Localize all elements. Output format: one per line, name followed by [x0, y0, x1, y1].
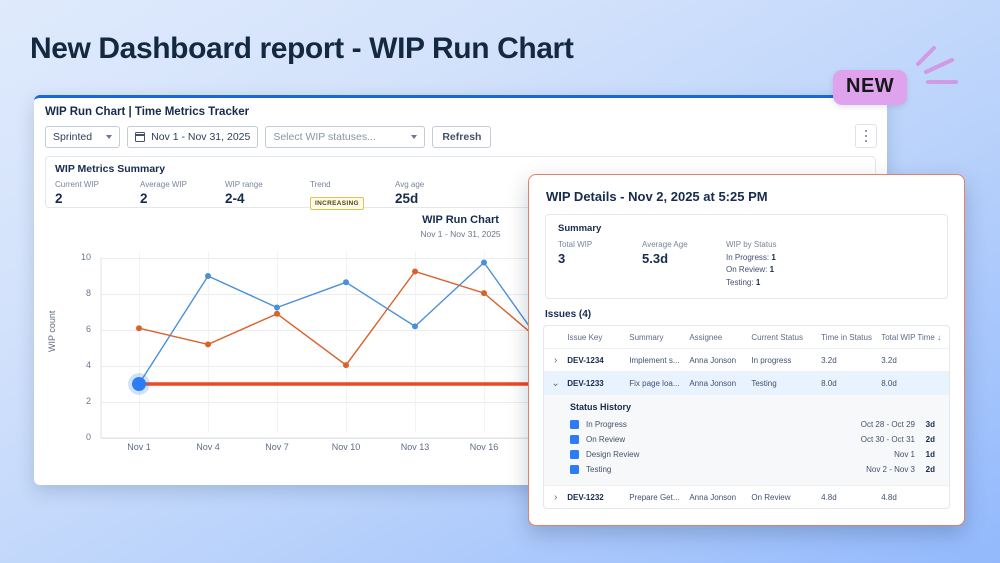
kebab-dot-icon [865, 140, 868, 143]
status-history-duration: 2d [915, 435, 949, 444]
status-count: 1 [770, 265, 774, 274]
average-age-value: 5.3d [642, 251, 726, 266]
chevron-down-icon [411, 135, 417, 139]
issue-summary: Implement s... [629, 356, 689, 365]
x-axis-tick: Nov 13 [385, 442, 445, 452]
date-range-value: Nov 1 - Nov 31, 2025 [151, 131, 250, 143]
column-header-assignee: Assignee [689, 333, 751, 342]
x-axis-tick: Nov 16 [454, 442, 514, 452]
sparkle-decoration-top-right [900, 44, 962, 96]
sprint-select[interactable]: Sprinted [45, 126, 120, 148]
status-history-row: Design Review Nov 1 1d [544, 447, 949, 462]
status-history-row: On Review Oct 30 - Oct 31 2d [544, 432, 949, 447]
date-range-picker[interactable]: Nov 1 - Nov 31, 2025 [127, 126, 258, 148]
row-collapse-icon[interactable]: ⌄ [544, 378, 567, 389]
column-header-summary: Summary [629, 333, 689, 342]
issue-time-in-status: 3.2d [821, 356, 881, 365]
details-average-age: Average Age 5.3d [642, 240, 726, 289]
summary-heading: WIP Metrics Summary [46, 157, 875, 175]
metric-label: Trend [310, 180, 395, 189]
metric-avg-age: Avg age 25d [395, 180, 480, 210]
status-color-swatch-icon [570, 465, 579, 474]
status-history-name: Design Review [586, 450, 819, 459]
issue-summary: Prepare Get... [629, 493, 689, 502]
row-expander-icon[interactable]: › [544, 492, 567, 503]
sprint-select-value: Sprinted [53, 131, 92, 143]
metric-value: 2 [140, 191, 225, 206]
status-history-duration: 2d [915, 465, 949, 474]
status-count: 1 [756, 278, 760, 287]
metric-value: 25d [395, 191, 480, 206]
issue-status: In progress [751, 356, 821, 365]
wip-status-placeholder: Select WIP statuses... [273, 131, 376, 143]
column-header-current-status: Current Status [751, 333, 821, 342]
status-history-dates: Oct 28 - Oct 29 [819, 420, 915, 429]
issue-assignee: Anna Jonson [689, 356, 751, 365]
details-summary-box: Summary Total WIP 3 Average Age 5.3d WIP… [545, 214, 948, 299]
issue-status: On Review [751, 493, 821, 502]
status-color-swatch-icon [570, 435, 579, 444]
details-summary-heading: Summary [558, 223, 947, 234]
issue-summary: Fix page loa... [629, 379, 689, 388]
x-axis-tick: Nov 10 [316, 442, 376, 452]
issue-key[interactable]: DEV-1232 [567, 493, 629, 502]
status-history-name: On Review [586, 435, 819, 444]
issue-assignee: Anna Jonson [689, 493, 751, 502]
table-row[interactable]: › DEV-1232 Prepare Get... Anna Jonson On… [544, 485, 949, 508]
status-color-swatch-icon [570, 450, 579, 459]
metric-value: 2-4 [225, 191, 310, 206]
x-axis-tick: Nov 7 [247, 442, 307, 452]
details-total-wip: Total WIP 3 [558, 240, 642, 289]
row-expander-icon[interactable]: › [544, 355, 567, 366]
kebab-dot-icon [865, 130, 868, 133]
status-count: 1 [771, 253, 775, 262]
refresh-button[interactable]: Refresh [432, 126, 491, 148]
x-axis-tick: Nov 1 [109, 442, 169, 452]
status-count-row: On Review: 1 [726, 264, 777, 276]
issue-key[interactable]: DEV-1234 [567, 356, 629, 365]
issue-status: Testing [751, 379, 821, 388]
card-title: WIP Run Chart | Time Metrics Tracker [45, 106, 249, 118]
status-history-name: In Progress [586, 420, 819, 429]
wip-status-select[interactable]: Select WIP statuses... [265, 126, 425, 148]
status-history-duration: 3d [915, 420, 949, 429]
chart-toolbar: Sprinted Nov 1 - Nov 31, 2025 Select WIP… [45, 126, 491, 148]
trend-badge: INCREASING [310, 197, 364, 210]
issue-assignee: Anna Jonson [689, 379, 751, 388]
status-history-dates: Nov 2 - Nov 3 [819, 465, 915, 474]
column-header-issue-key: Issue Key [567, 333, 629, 342]
metric-label: WIP range [225, 180, 310, 189]
issue-time-in-status: 8.0d [821, 379, 881, 388]
chevron-down-icon [106, 135, 112, 139]
details-wip-by-status: WIP by Status In Progress: 1 On Review: … [726, 240, 777, 289]
issue-key[interactable]: DEV-1233 [567, 379, 629, 388]
status-history-duration: 1d [915, 450, 949, 459]
metric-average-wip: Average WIP 2 [140, 180, 225, 210]
status-history-section: Status History In Progress Oct 28 - Oct … [544, 394, 949, 485]
status-history-name: Testing [586, 465, 819, 474]
issue-time-in-status: 4.8d [821, 493, 881, 502]
table-header-row: Issue Key Summary Assignee Current Statu… [544, 326, 949, 348]
status-count-row: Testing: 1 [726, 277, 777, 289]
issue-total-wip-time: 8.0d [881, 379, 949, 388]
new-badge: NEW [833, 70, 907, 105]
page-title: New Dashboard report - WIP Run Chart [30, 32, 573, 66]
status-name: Testing: [726, 278, 754, 287]
metric-label: Avg age [395, 180, 480, 189]
status-name: In Progress: [726, 253, 769, 262]
details-title: WIP Details - Nov 2, 2025 at 5:25 PM [529, 175, 964, 204]
status-history-heading: Status History [544, 402, 949, 417]
more-options-button[interactable] [855, 124, 877, 148]
total-wip-label: Total WIP [558, 240, 642, 249]
total-wip-value: 3 [558, 251, 642, 266]
status-history-dates: Oct 30 - Oct 31 [819, 435, 915, 444]
metric-wip-range: WIP range 2-4 [225, 180, 310, 210]
wip-details-panel: WIP Details - Nov 2, 2025 at 5:25 PM Sum… [528, 174, 965, 526]
metric-current-wip: Current WIP 2 [55, 180, 140, 210]
wip-by-status-label: WIP by Status [726, 240, 777, 249]
metric-trend: Trend INCREASING [310, 180, 395, 210]
average-age-label: Average Age [642, 240, 726, 249]
issue-total-wip-time: 4.8d [881, 493, 949, 502]
x-axis-tick: Nov 4 [178, 442, 238, 452]
status-name: On Review: [726, 265, 767, 274]
status-history-row: Testing Nov 2 - Nov 3 2d [544, 462, 949, 477]
table-row[interactable]: › DEV-1234 Implement s... Anna Jonson In… [544, 348, 949, 371]
issue-total-wip-time: 3.2d [881, 356, 949, 365]
metric-label: Average WIP [140, 180, 225, 189]
column-header-time-in-status: Time in Status [821, 333, 881, 342]
status-count-row: In Progress: 1 [726, 252, 777, 264]
issues-heading: Issues (4) [529, 299, 964, 325]
table-row[interactable]: ⌄ DEV-1233 Fix page loa... Anna Jonson T… [544, 371, 949, 394]
kebab-dot-icon [865, 135, 868, 138]
status-history-row: In Progress Oct 28 - Oct 29 3d [544, 417, 949, 432]
status-color-swatch-icon [570, 420, 579, 429]
metric-label: Current WIP [55, 180, 140, 189]
column-header-total-wip-time[interactable]: Total WIP Time ↓ [881, 333, 949, 342]
metric-value: 2 [55, 191, 140, 206]
calendar-icon [135, 132, 145, 142]
issues-table: Issue Key Summary Assignee Current Statu… [543, 325, 950, 509]
status-history-dates: Nov 1 [819, 450, 915, 459]
